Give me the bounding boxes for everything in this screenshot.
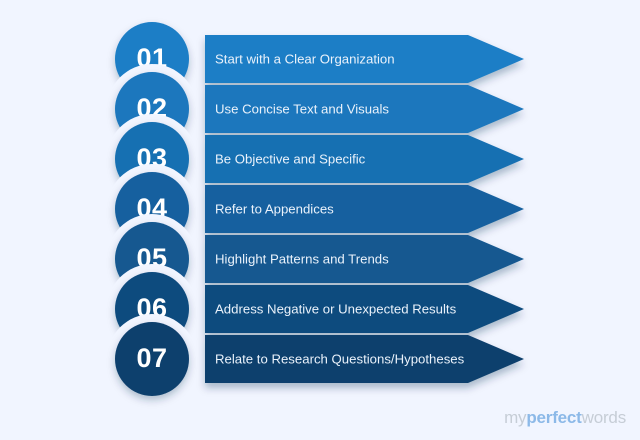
step-row[interactable]: Address Negative or Unexpected Results xyxy=(205,285,524,333)
step-row[interactable]: Relate to Research Questions/Hypotheses xyxy=(205,335,524,383)
step-number: 07 xyxy=(136,343,167,373)
logo-part-perfect: perfect xyxy=(526,408,581,427)
step-label: Highlight Patterns and Trends xyxy=(215,251,389,266)
step-label: Be Objective and Specific xyxy=(215,151,366,166)
step-label: Refer to Appendices xyxy=(215,201,334,216)
step-row[interactable]: Use Concise Text and Visuals xyxy=(205,85,524,133)
brand-logo: myperfectwords xyxy=(504,408,626,428)
step-label: Start with a Clear Organization xyxy=(215,51,395,66)
step-label: Address Negative or Unexpected Results xyxy=(215,301,457,316)
steps-list: Start with a Clear OrganizationUse Conci… xyxy=(107,14,524,404)
logo-part-my: my xyxy=(504,408,526,427)
step-row[interactable]: Be Objective and Specific xyxy=(205,135,524,183)
logo-part-words: words xyxy=(582,408,626,427)
step-row[interactable]: Start with a Clear Organization xyxy=(205,35,524,83)
step-row[interactable]: Refer to Appendices xyxy=(205,185,524,233)
step-badge[interactable]: 07 xyxy=(107,314,197,404)
step-label: Use Concise Text and Visuals xyxy=(215,101,389,116)
step-row[interactable]: Highlight Patterns and Trends xyxy=(205,235,524,283)
steps-infographic: Start with a Clear OrganizationUse Conci… xyxy=(0,0,640,440)
step-label: Relate to Research Questions/Hypotheses xyxy=(215,351,465,366)
